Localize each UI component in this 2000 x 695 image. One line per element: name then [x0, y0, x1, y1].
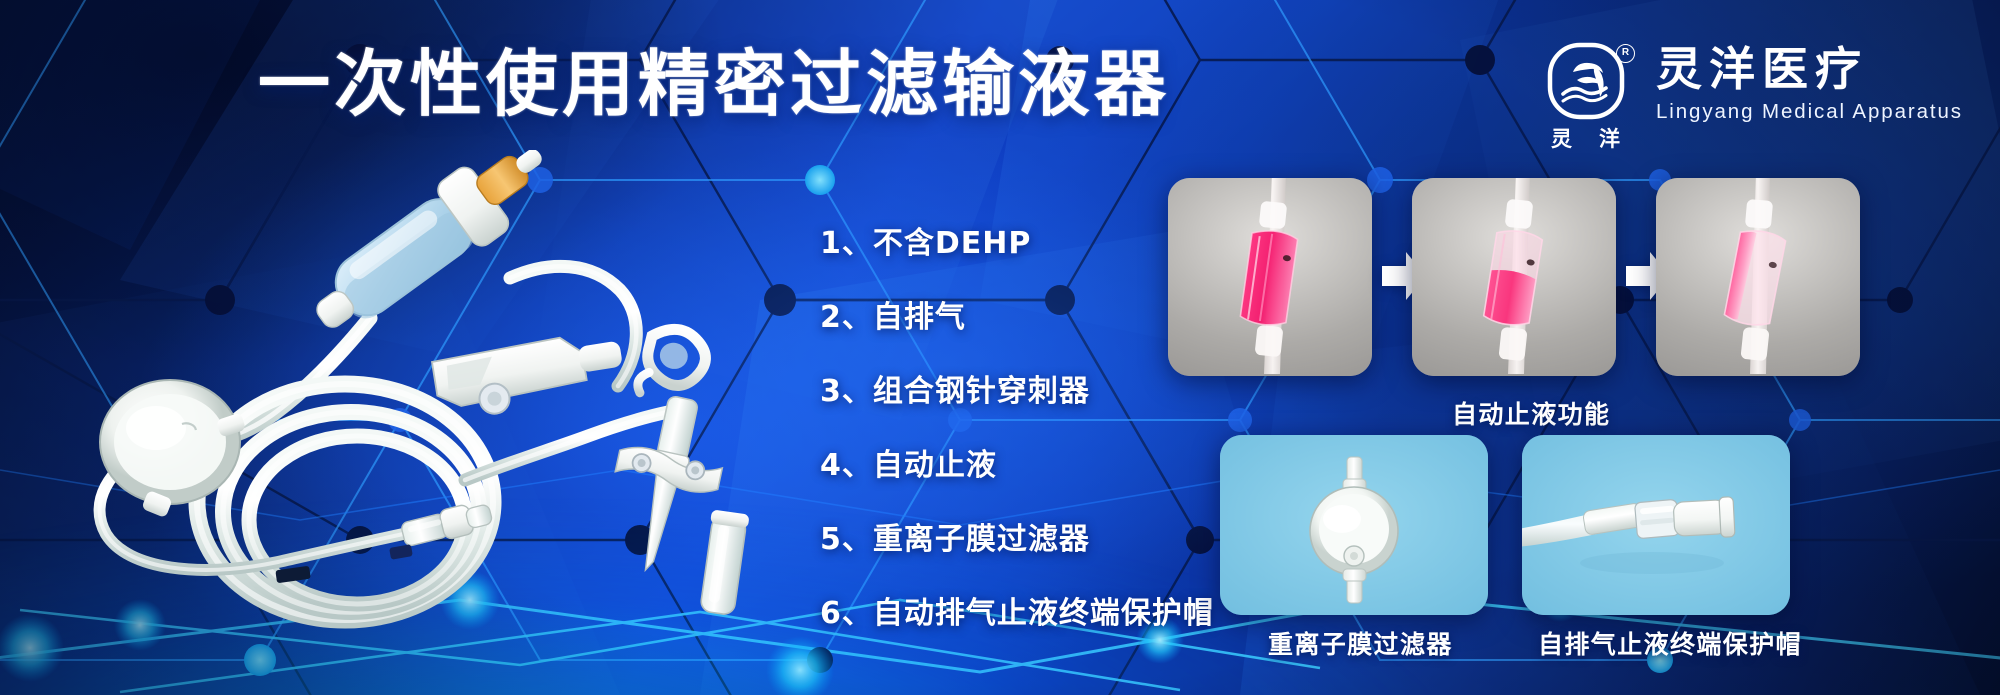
- panel-chamber-full: [1168, 178, 1372, 376]
- caption-terminal-cap: 自排气止液终端保护帽: [1538, 625, 1802, 661]
- product-photo: [40, 150, 840, 670]
- emblem-char-left: 灵: [1551, 123, 1573, 153]
- brand-name-cn: 灵洋医疗: [1656, 46, 1963, 94]
- page-title: 一次性使用精密过滤输液器: [258, 48, 1170, 120]
- caption-auto-stop: 自动止液功能: [1452, 395, 1610, 431]
- feature-item-5: 5、重离子膜过滤器: [820, 514, 1214, 558]
- chamber-empty-photo: [1656, 178, 1860, 376]
- lingyang-wave-emblem-icon: R: [1547, 42, 1625, 120]
- product-banner: 一次性使用精密过滤输液器 R 灵 洋 灵洋医疗 Lingya: [0, 0, 2000, 695]
- feature-item-6: 6、自动排气止液终端保护帽: [820, 588, 1214, 632]
- feature-list: 1、不含DEHP 2、自排气 3、组合钢针穿刺器 4、自动止液 5、重离子膜过滤…: [820, 218, 1214, 632]
- panel-heavy-ion-filter: [1220, 435, 1488, 615]
- emblem-char-right: 洋: [1599, 123, 1621, 153]
- brand-text-column: 灵洋医疗 Lingyang Medical Apparatus: [1656, 42, 1963, 124]
- brand-logo: R 灵 洋 灵洋医疗 Lingyang Medical Apparatus: [1534, 42, 1963, 153]
- chamber-half-photo: [1412, 178, 1616, 376]
- registered-trademark-icon: R: [1616, 44, 1635, 63]
- feature-item-1: 1、不含DEHP: [820, 218, 1214, 262]
- emblem-caption: 灵 洋: [1551, 123, 1621, 153]
- caption-heavy-ion-filter: 重离子膜过滤器: [1268, 625, 1453, 661]
- terminal-cap-photo: [1522, 435, 1790, 615]
- feature-item-2: 2、自排气: [820, 292, 1214, 336]
- panel-terminal-cap: [1522, 435, 1790, 615]
- brand-name-en: Lingyang Medical Apparatus: [1656, 100, 1963, 124]
- emblem-wrap: R 灵 洋: [1534, 42, 1638, 153]
- round-filter-photo: [1220, 435, 1488, 615]
- chamber-full-photo: [1168, 178, 1372, 376]
- feature-item-3: 3、组合钢针穿刺器: [820, 366, 1214, 410]
- panel-chamber-half: [1412, 178, 1616, 376]
- panel-chamber-empty: [1656, 178, 1860, 376]
- feature-item-4: 4、自动止液: [820, 440, 1214, 484]
